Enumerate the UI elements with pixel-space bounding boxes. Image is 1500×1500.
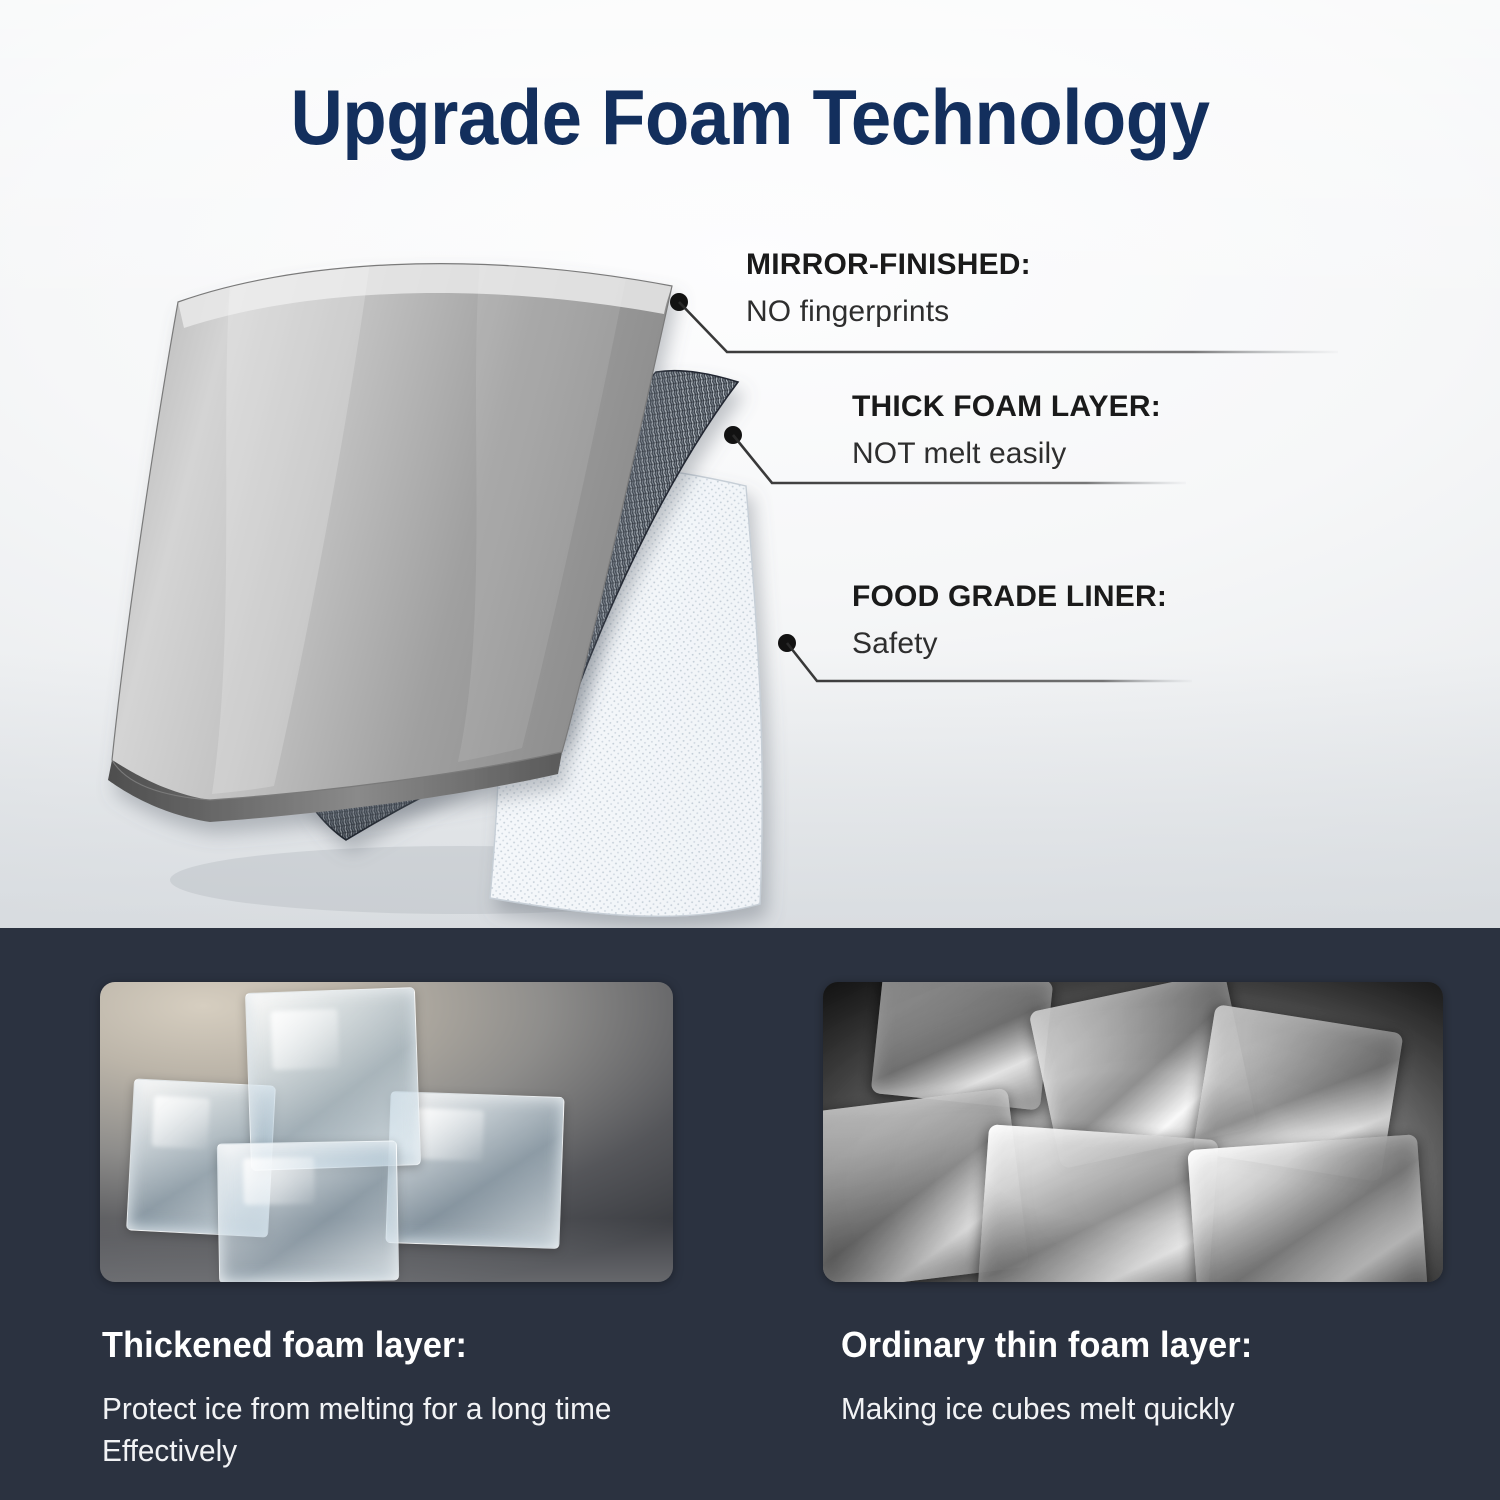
caption-body: Making ice cubes melt quickly — [841, 1388, 1379, 1430]
callout-subtitle: Safety — [852, 627, 1167, 662]
callout-title: THICK FOAM LAYER: — [852, 390, 1161, 425]
callout-subtitle: NOT melt easily — [852, 437, 1161, 472]
caption-body: Protect ice from melting for a long time… — [102, 1388, 640, 1471]
feature-diagram-section: Upgrade Foam Technology — [0, 0, 1500, 928]
callout-mirror-finished: MIRROR-FINISHED: NO fingerprints — [746, 248, 1031, 329]
callout-subtitle: NO fingerprints — [746, 295, 1031, 330]
clear-ice-cubes-photo — [100, 982, 673, 1282]
caption-title: Ordinary thin foam layer: — [841, 1324, 1252, 1366]
comparison-column-thickened: Thickened foam layer: Protect ice from m… — [100, 928, 700, 1500]
callout-title: FOOD GRADE LINER: — [852, 580, 1167, 615]
product-infographic: Upgrade Foam Technology — [0, 0, 1500, 1500]
callout-food-grade-liner: FOOD GRADE LINER: Safety — [852, 580, 1167, 661]
callout-title: MIRROR-FINISHED: — [746, 248, 1031, 283]
layered-material-illustration — [60, 240, 820, 928]
page-title: Upgrade Foam Technology — [53, 78, 1448, 156]
photo-floor-glow — [100, 1218, 673, 1282]
comparison-column-ordinary: Ordinary thin foam layer: Making ice cub… — [823, 928, 1423, 1500]
photo-vignette — [823, 982, 1443, 1282]
comparison-section: Thickened foam layer: Protect ice from m… — [0, 928, 1500, 1500]
callout-thick-foam-layer: THICK FOAM LAYER: NOT melt easily — [852, 390, 1161, 471]
melting-ice-chunks-photo — [823, 982, 1443, 1282]
caption-title: Thickened foam layer: — [102, 1324, 467, 1366]
